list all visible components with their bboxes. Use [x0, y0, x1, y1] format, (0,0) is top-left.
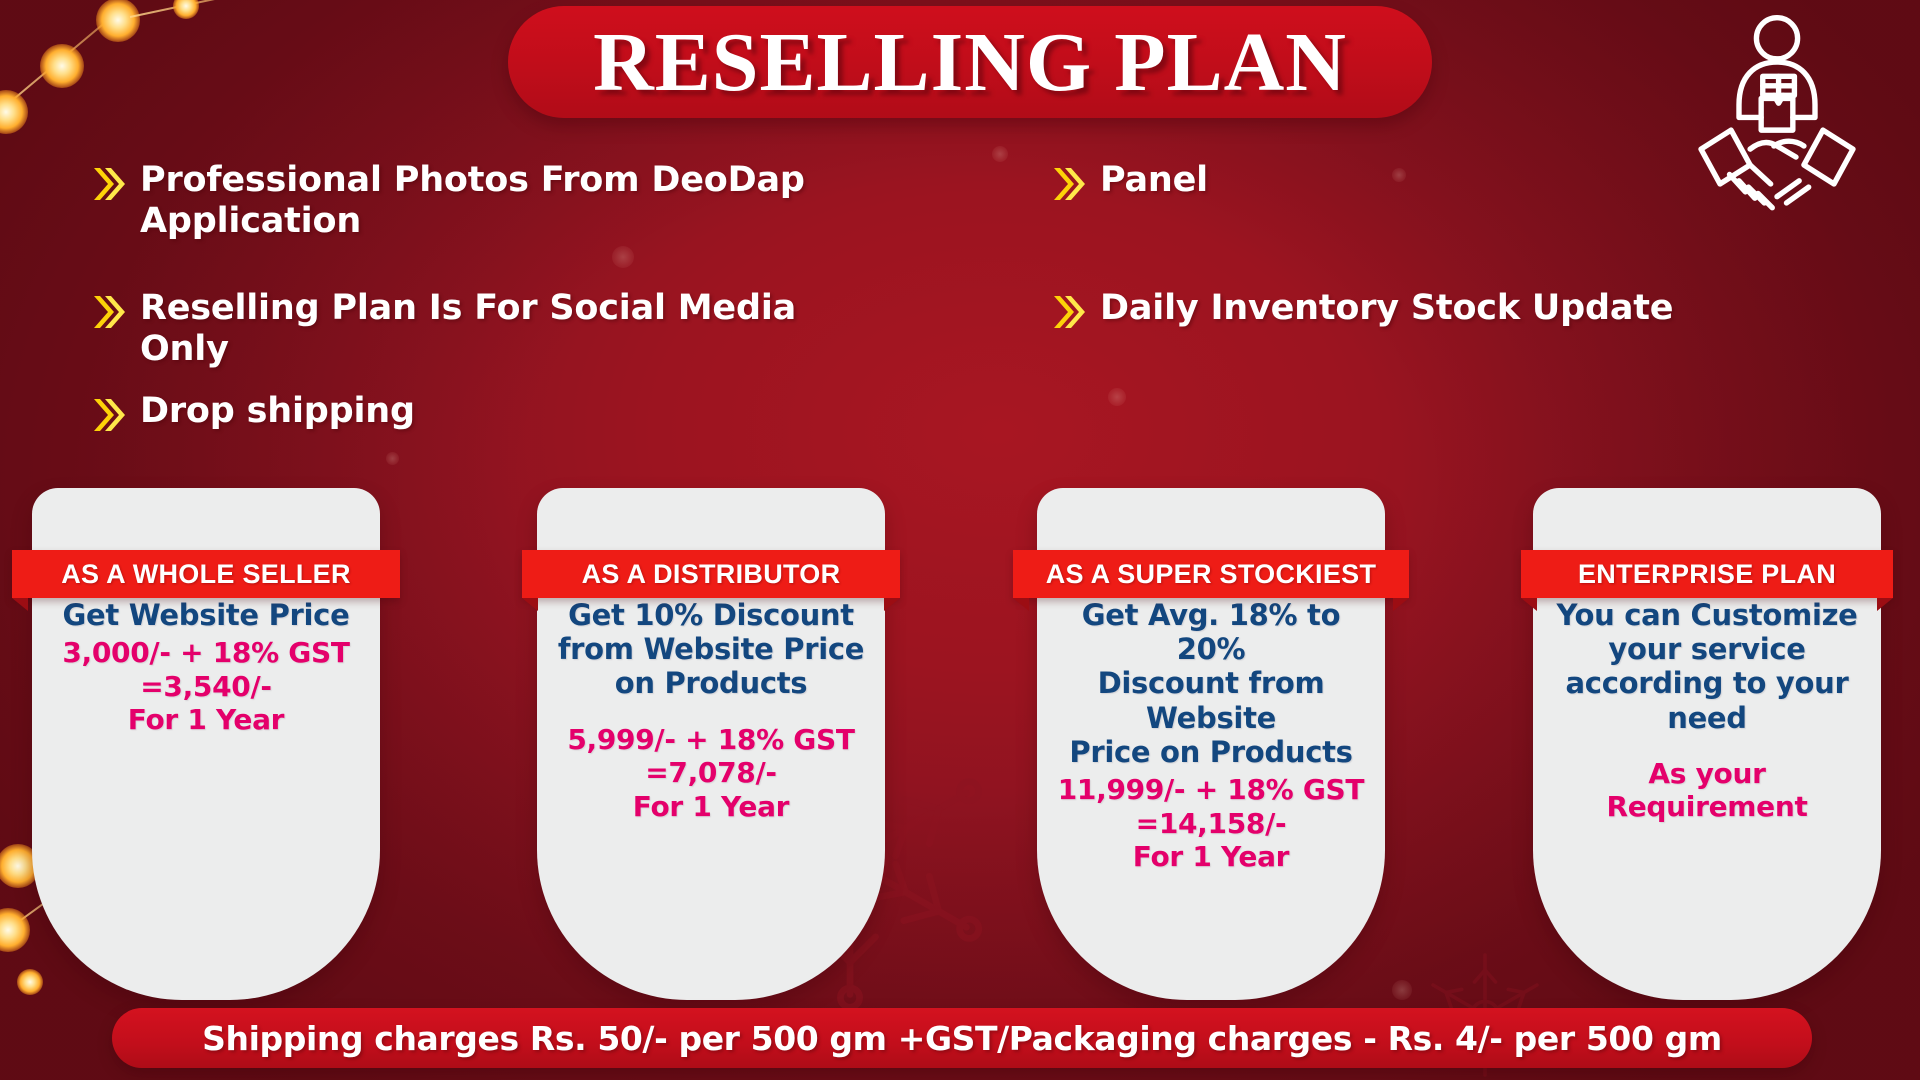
feature-label: Professional Photos From DeoDap Applicat… — [140, 160, 852, 243]
plan-card-ribbon-label: AS A DISTRIBUTOR — [582, 559, 841, 590]
feature-label: Reselling Plan Is For Social Media Only — [140, 288, 892, 371]
feature-item: Daily Inventory Stock Update — [1052, 288, 1792, 332]
plan-card-heading: Get Avg. 18% to 20%Discount fromWebsiteP… — [1051, 598, 1371, 769]
feature-item: Panel — [1052, 160, 1552, 204]
double-chevron-bullet-icon — [92, 292, 126, 332]
shipping-note-text: Shipping charges Rs. 50/- per 500 gm +GS… — [202, 1019, 1722, 1058]
plan-card-heading: You can Customizeyour serviceaccording t… — [1547, 598, 1867, 735]
plan-card-body: Get Avg. 18% to 20%Discount fromWebsiteP… — [1037, 598, 1385, 874]
feature-item: Reselling Plan Is For Social Media Only — [92, 288, 892, 371]
plan-card-price: 5,999/- + 18% GST=7,078/-For 1 Year — [551, 723, 871, 824]
bokeh-dot — [386, 452, 399, 465]
plan-card-list: Get Website Price 3,000/- + 18% GST=3,54… — [0, 488, 1920, 1008]
double-chevron-bullet-icon — [92, 164, 126, 204]
plan-card-body: Get Website Price 3,000/- + 18% GST=3,54… — [32, 598, 380, 737]
plan-card-price: 3,000/- + 18% GST=3,540/-For 1 Year — [46, 636, 366, 737]
title-banner: RESELLING PLAN — [508, 6, 1432, 118]
double-chevron-bullet-icon — [92, 395, 126, 435]
plan-card-ribbon-label: AS A WHOLE SELLER — [61, 559, 351, 590]
shipping-note-banner: Shipping charges Rs. 50/- per 500 gm +GS… — [112, 1008, 1812, 1068]
ribbon-fold — [12, 598, 28, 611]
plan-card-ribbon: AS A SUPER STOCKIEST — [1013, 550, 1409, 598]
feature-label: Panel — [1100, 160, 1208, 201]
page-title: RESELLING PLAN — [593, 14, 1347, 111]
plan-card-heading: Get Website Price — [46, 598, 366, 632]
plan-card-body: You can Customizeyour serviceaccording t… — [1533, 598, 1881, 824]
ribbon-fold — [1393, 598, 1409, 611]
plan-card-body: Get 10% Discountfrom Website Priceon Pro… — [537, 598, 885, 823]
double-chevron-bullet-icon — [1052, 164, 1086, 204]
feature-label: Drop shipping — [140, 391, 415, 432]
ribbon-fold — [1013, 598, 1029, 611]
plan-card-ribbon: ENTERPRISE PLAN — [1521, 550, 1893, 598]
plan-card-ribbon-label: AS A SUPER STOCKIEST — [1046, 559, 1377, 590]
ribbon-fold — [522, 598, 538, 611]
plan-card-price: As yourRequirement — [1547, 757, 1867, 824]
double-chevron-bullet-icon — [1052, 292, 1086, 332]
feature-item: Professional Photos From DeoDap Applicat… — [92, 160, 852, 243]
feature-item: Drop shipping — [92, 391, 592, 435]
feature-list: Professional Photos From DeoDap Applicat… — [0, 146, 1920, 446]
plan-card-heading: Get 10% Discountfrom Website Priceon Pro… — [551, 598, 871, 701]
plan-card-price: 11,999/- + 18% GST=14,158/-For 1 Year — [1051, 773, 1371, 874]
plan-card-ribbon: AS A DISTRIBUTOR — [522, 550, 900, 598]
reselling-plan-poster: RESELLING PLAN — [0, 0, 1920, 1080]
feature-label: Daily Inventory Stock Update — [1100, 288, 1673, 329]
ribbon-fold — [884, 598, 900, 611]
plan-card-ribbon: AS A WHOLE SELLER — [12, 550, 400, 598]
plan-card-ribbon-label: ENTERPRISE PLAN — [1578, 559, 1836, 590]
